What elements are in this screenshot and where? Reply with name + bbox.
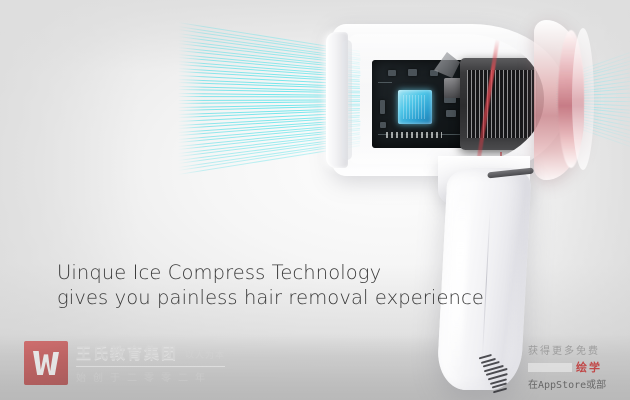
logo-text-block: 王氏教育集团 以人为本 始创于二零零二年	[76, 342, 225, 384]
page-title: Uinque Ice Compress Technology gives you…	[57, 260, 484, 310]
motor-heatsink	[460, 58, 544, 150]
headline-line-1: Uinque Ice Compress Technology	[57, 260, 484, 285]
watermark-brand: 绘学	[576, 359, 602, 375]
logo-company-name: 王氏教育集团	[76, 342, 178, 363]
logo-badge	[24, 341, 68, 385]
footer-logo: 王氏教育集团 以人为本 始创于二零零二年	[24, 341, 225, 385]
pcb-resistor	[380, 122, 386, 128]
pcb-connector-pads	[386, 132, 442, 138]
headline-line-2: gives you painless hair removal experien…	[57, 285, 484, 310]
product-device	[326, 18, 626, 390]
w-book-icon	[33, 351, 59, 375]
app-promo-watermark: 获得更多免费 绘学 在AppStore或部	[528, 342, 630, 391]
watermark-line-3: 在AppStore或部	[528, 376, 630, 391]
pcb-capacitor	[408, 69, 417, 76]
pcb-ic	[446, 110, 456, 117]
logo-divider	[76, 366, 225, 367]
watermark-line-1: 获得更多免费	[528, 342, 630, 357]
watermark-bar	[528, 363, 572, 372]
power-button[interactable]	[487, 168, 533, 179]
watermark-brand-row: 绘学	[528, 359, 630, 375]
pcb-capacitor	[388, 70, 396, 76]
logo-primary-line: 王氏教育集团 以人为本	[76, 342, 225, 363]
head-glass-window	[348, 34, 544, 164]
rear-gloss-highlight	[572, 28, 594, 170]
logo-slogan: 以人为本	[185, 348, 225, 363]
nozzle-inner-ring	[342, 40, 352, 160]
processor-chip	[398, 90, 432, 124]
vent-slot	[493, 387, 506, 393]
pcb-trace	[378, 82, 392, 83]
screenshot-canvas: Uinque Ice Compress Technology gives you…	[0, 0, 630, 400]
pcb-resistor	[380, 100, 385, 114]
logo-established: 始创于二零零二年	[76, 369, 225, 384]
heatsink-fins	[467, 70, 537, 138]
